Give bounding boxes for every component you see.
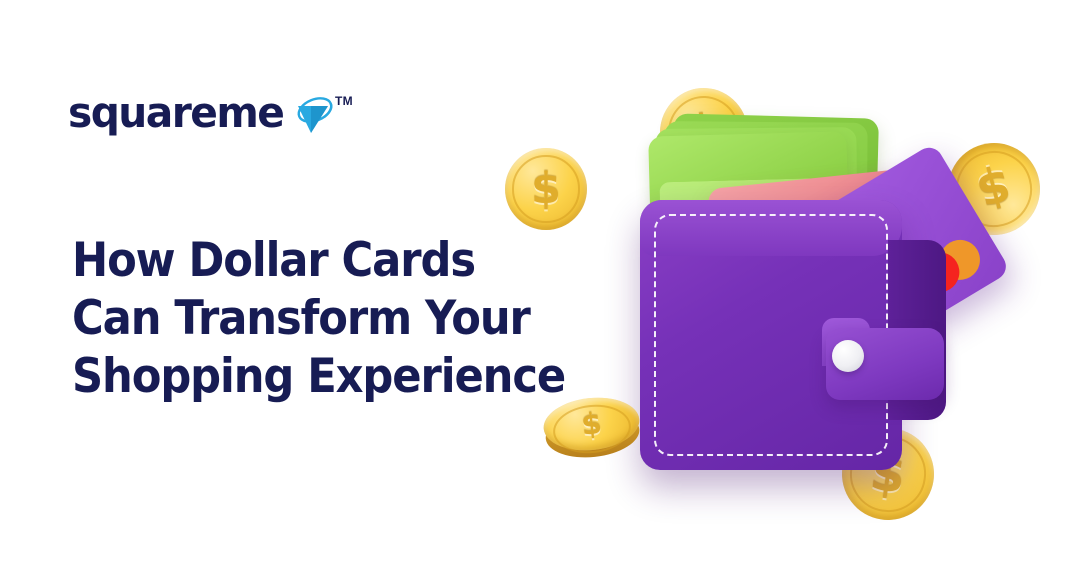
dollar-coin: $ bbox=[541, 393, 643, 465]
purple-wallet bbox=[640, 200, 940, 490]
wallet-snap-button[interactable] bbox=[832, 340, 864, 372]
dollar-coin: $ bbox=[505, 148, 587, 230]
squareme-orbit-arrow-icon bbox=[294, 92, 334, 134]
trademark-symbol: TM bbox=[335, 94, 353, 108]
coin-dollar-symbol: $ bbox=[541, 393, 642, 455]
banner-root: squareme TM How Dollar Cards Can Transfo… bbox=[0, 0, 1080, 567]
wallet-illustration: $ $ squareme bbox=[470, 40, 1080, 567]
coin-dollar-symbol: $ bbox=[505, 148, 587, 230]
brand-logo[interactable]: squareme TM bbox=[68, 92, 353, 134]
brand-wordmark: squareme bbox=[68, 92, 283, 134]
